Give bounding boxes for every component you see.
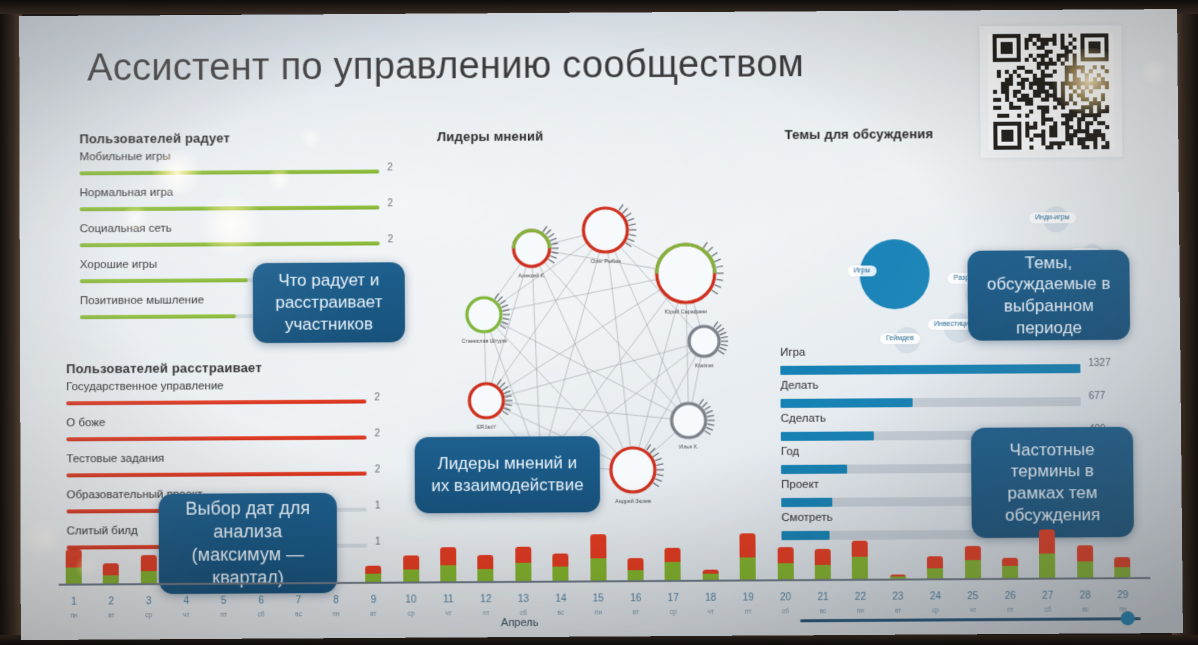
timeline-day-number: 26 [997,591,1023,602]
timeline-day-bar [702,570,718,580]
timeline-bar-negative [1114,557,1130,567]
timeline-bar-positive [665,562,681,580]
freq-row: Делать677 [780,378,1110,413]
freq-fill [781,431,874,441]
bar-row: Тестовые задания2 [66,451,386,489]
timeline-bar-positive [440,565,456,581]
freq-track [780,364,1080,375]
bar-row: Мобильные игры2 [79,149,399,187]
timeline-day-of-week: чт [698,609,724,616]
bar-track [66,472,366,478]
timeline-bar-positive [628,570,644,580]
timeline-day-number: 3 [136,596,162,607]
bar-track [80,241,380,247]
timeline-bar-positive [1039,554,1055,578]
timeline-day-number: 6 [248,595,274,606]
bar-label: Мобильные игры [79,151,170,164]
timeline-day-number: 24 [922,591,948,602]
timeline-day-of-week: ср [398,611,424,618]
bar-fill [80,205,380,211]
timeline-day-number: 19 [735,592,761,603]
timeline-bar-positive [403,569,419,581]
callout-likes-dislikes: Что радует и расстраивает участников [253,262,405,343]
timeline-day-number: 2 [98,596,124,607]
timeline-day[interactable]: 28вс [1072,519,1099,623]
timeline-day[interactable]: 15пн [585,522,612,626]
bar-row: Нормальная игра2 [80,185,400,223]
timeline-bar-negative [627,558,643,570]
network-node-label: Олег Рыбин [590,259,620,265]
timeline-bar-negative [665,548,681,562]
timeline-day-bar [890,574,906,578]
bar-label: О боже [66,417,105,429]
timeline-bar-negative [1039,529,1055,553]
freq-label: Игра [780,347,805,359]
timeline-day[interactable]: 23вт [884,520,911,624]
bar-track [80,169,380,175]
timeline-day[interactable]: 5пт [210,524,236,628]
bar-track [66,399,366,405]
timeline-day-of-week: сб [248,611,274,618]
bar-fill [80,241,380,247]
qr-code[interactable] [980,25,1123,158]
bar-value: 2 [375,464,381,475]
freq-value: 677 [1089,391,1106,402]
timeline-bar-positive [478,569,494,581]
timeline-day[interactable]: 2вт [98,525,124,629]
bar-track [66,435,366,441]
timeline-bar-positive [66,568,82,584]
bar-fill [66,399,366,405]
timeline-bar-negative [590,534,606,558]
timeline-day-number: 25 [960,591,986,602]
freq-fill [781,465,847,474]
timeline-day-bar [627,558,643,580]
timeline-day[interactable]: 11чт [435,523,462,627]
timeline-day-number: 27 [1035,591,1061,602]
bar-value: 2 [387,162,393,173]
freq-label: Делать [780,380,818,392]
timeline-day[interactable]: 25чт [959,520,986,624]
dislikes-panel-heading: Пользователей расстраивает [66,360,262,376]
timeline-day[interactable]: 4чт [173,525,199,629]
bar-fill [66,472,366,478]
timeline-bar-negative [141,555,157,571]
timeline-bar-positive [103,575,119,583]
bar-label: Нормальная игра [80,187,174,200]
bar-fill [80,169,380,175]
timeline-day-bar [852,541,868,579]
timeline-day-of-week: вс [286,611,312,618]
timeline-bar-positive [740,557,756,579]
timeline-day-number: 15 [585,593,611,604]
network-node-label: Станислав Штурм [461,339,507,345]
timeline-day[interactable]: 12пт [472,523,499,627]
timeline-day-number: 18 [698,593,724,604]
timeline-bar-positive [702,574,718,580]
bar-label: Хорошие игры [80,259,157,271]
timeline-bar-negative [927,556,943,568]
topic-bubble-label: Геймдев [880,333,920,344]
timeline-bar-negative [403,555,419,569]
timeline-day-number: 11 [435,594,461,605]
timeline-day-bar [927,556,943,578]
timeline-day-of-week: чт [173,612,199,619]
timeline-day-number: 4 [173,596,199,607]
timeline-day[interactable]: 17ср [660,522,687,626]
timeline-bar-negative [852,541,868,557]
timeline-day-number: 9 [360,595,386,606]
timeline-day[interactable]: 3ср [135,525,161,629]
timeline-day-bar [66,549,82,583]
timeline-day-of-week: сб [773,608,799,615]
freq-label: Проект [781,479,819,491]
bar-fill [80,314,236,319]
timeline-bar-positive [1114,567,1130,577]
timeline-bar-positive [1002,566,1018,578]
projected-slide-photo: Ассистент по управлению сообществом Поль… [0,0,1198,645]
timeline-day-number: 14 [548,594,574,605]
timeline-day[interactable]: 24ср [922,520,949,624]
timeline-day-of-week: ср [136,612,162,619]
freq-label: Год [781,446,799,458]
timeline-bar-positive [553,567,569,581]
network-node-label: ERJaxY [477,425,497,431]
timeline-day-of-week: вт [623,609,649,616]
timeline-bar-positive [927,568,943,578]
timeline-bar-negative [515,547,531,563]
timeline-day-number: 17 [660,593,686,604]
timeline-bar-negative [777,547,793,563]
bar-track [80,205,380,211]
timeline-bar-negative [66,549,82,567]
timeline-bar-negative [553,553,569,566]
bar-value: 1 [375,501,381,512]
bar-row: Социальная сеть2 [80,221,400,259]
slider-track[interactable] [800,617,1141,622]
timeline-day[interactable]: 1пн [61,525,87,629]
timeline-day-bar [1077,545,1093,577]
timeline-day-number: 21 [810,592,836,603]
network-node-label: Алексей К. [518,272,545,279]
timeline-day-bar [403,555,419,581]
bar-label: Государственное управление [66,380,224,393]
timeline-day-number: 5 [211,596,237,607]
likes-panel-heading: Пользователей радует [79,130,230,146]
timeline-day-of-week: пн [61,613,87,620]
leaders-panel-heading: Лидеры мнений [437,129,543,145]
timeline-bar-negative [103,563,119,575]
bar-row: Государственное управление2 [66,379,386,417]
timeline-bar-positive [777,563,793,579]
timeline-day-bar [777,547,793,579]
timeline-bar-positive [815,565,831,579]
timeline-day-number: 8 [323,595,349,606]
timeline-day[interactable]: 8пн [323,524,350,628]
timeline-bar-positive [590,558,606,580]
timeline-day-bar [815,549,831,579]
topics-panel-heading: Темы для обсуждения [785,126,934,142]
timeline-day-bar [964,546,980,578]
timeline-day-bar [740,533,756,579]
timeline-day[interactable]: 16вт [622,522,649,626]
timeline-bar-negative [740,533,756,557]
timeline-day-of-week: вт [98,612,124,619]
timeline-day[interactable]: 26пт [997,520,1024,624]
timeline-day-of-week: пн [323,611,349,618]
timeline-day-bar [141,555,157,583]
timeline-day-bar [553,553,569,580]
timeline-day-number: 16 [623,593,649,604]
timeline-day-number: 22 [847,592,873,603]
network-node-label: Kiwimei [695,363,714,369]
timeline-day-bar [1039,529,1055,577]
timeline-day-number: 23 [885,592,911,603]
timeline-day-number: 10 [398,594,424,605]
slider-handle[interactable] [1121,611,1135,625]
timeline-day-bar [1114,557,1130,577]
freq-value: 1327 [1088,358,1110,369]
freq-track [781,397,1081,408]
timeline-bar-negative [440,547,456,565]
timeline-day-of-week: пт [211,612,237,619]
bar-fill [80,278,248,283]
timeline-day[interactable]: 21вс [809,521,836,625]
timeline-day[interactable]: 18чт [697,521,724,625]
timeline-day[interactable]: 19пт [735,521,762,625]
timeline-day[interactable]: 22пн [847,521,874,625]
bar-value: 2 [374,428,380,439]
timeline-day[interactable]: 27сб [1034,519,1061,623]
timeline-day[interactable]: 7вс [285,524,311,628]
slide-surface: Ассистент по управлению сообществом Поль… [19,9,1183,640]
freq-fill [781,398,913,408]
bar-fill [66,435,366,441]
freq-fill [780,364,1080,375]
timeline-bar-positive [515,563,531,581]
timeline-day-number: 12 [473,594,499,605]
network-node-label: Андрей Зюзев [615,498,651,505]
timeline-day[interactable]: 10ср [398,523,425,627]
network-node-label: Юрий Сарафани [665,308,707,315]
timeline-bar-positive [965,560,981,578]
timeline-bar-negative [1002,558,1018,566]
timeline-bar-negative [815,549,831,565]
timeline-bar-positive [1077,561,1093,577]
timeline-month-label: Апрель [429,616,609,629]
bar-label: Позитивное мышление [80,294,204,307]
timeline-day-bar [103,563,119,583]
page-title: Ассистент по управлению сообществом [87,43,804,90]
timeline-day-number: 28 [1072,590,1098,601]
timeline-bar-negative [1077,545,1093,561]
timeline-slider[interactable] [800,611,1141,627]
timeline-day-bar [665,548,681,580]
timeline-day-of-week: пт [735,608,761,615]
topic-bubble-label: Игры [848,265,877,276]
timeline-day[interactable]: 14вс [547,522,574,626]
timeline-day-bar [478,555,494,581]
bar-label: Тестовые задания [66,453,164,466]
qr-code-icon [988,33,1115,149]
timeline-day-number: 13 [510,594,536,605]
timeline-bar-positive [890,577,906,579]
freq-fill [781,498,832,507]
timeline-day-bar [590,534,606,580]
timeline-day[interactable]: 6сб [248,524,274,628]
bar-value: 2 [388,234,394,245]
timeline-day-bar [1002,558,1018,578]
timeline-day-bar [515,547,531,581]
timeline-day[interactable]: 9вт [360,524,387,628]
timeline-bar-positive [141,571,157,583]
timeline-day[interactable]: 29пн [1109,519,1136,623]
timeline-day-of-week: вт [361,611,387,618]
timeline-bar-negative [964,546,980,560]
timeline-day-bar [365,566,381,582]
timeline-day-number: 7 [286,595,312,606]
timeline-bar-negative [365,566,381,574]
topic-bubble-label: Инди-игры [1029,212,1076,223]
timeline-bar-positive [852,557,868,579]
timeline-day[interactable]: 20сб [772,521,799,625]
timeline-day-number: 1 [61,597,87,608]
timeline-day-number: 29 [1110,590,1136,601]
timeline-day[interactable]: 13сб [510,523,537,627]
slide-page: Ассистент по управлению сообществом Поль… [37,15,1167,634]
timeline-day-number: 20 [773,592,799,603]
timeline-bar-positive [365,574,381,582]
freq-row: Игра1327 [780,345,1110,380]
bar-row: О боже2 [66,415,386,453]
timeline-day-bar [440,547,456,581]
timeline-day-of-week: ср [660,609,686,616]
timeline-bar-negative [478,555,494,569]
network-node-label: Илья Х. [679,444,698,450]
callout-leaders: Лидеры мнений и их взаимодействие [415,436,601,513]
freq-label: Сделать [781,413,826,425]
bar-value: 2 [387,198,393,209]
bar-value: 2 [374,392,380,403]
bar-label: Социальная сеть [80,223,172,236]
callout-topics-period: Темы, обсуждаемые в выбранном периоде [967,250,1130,341]
